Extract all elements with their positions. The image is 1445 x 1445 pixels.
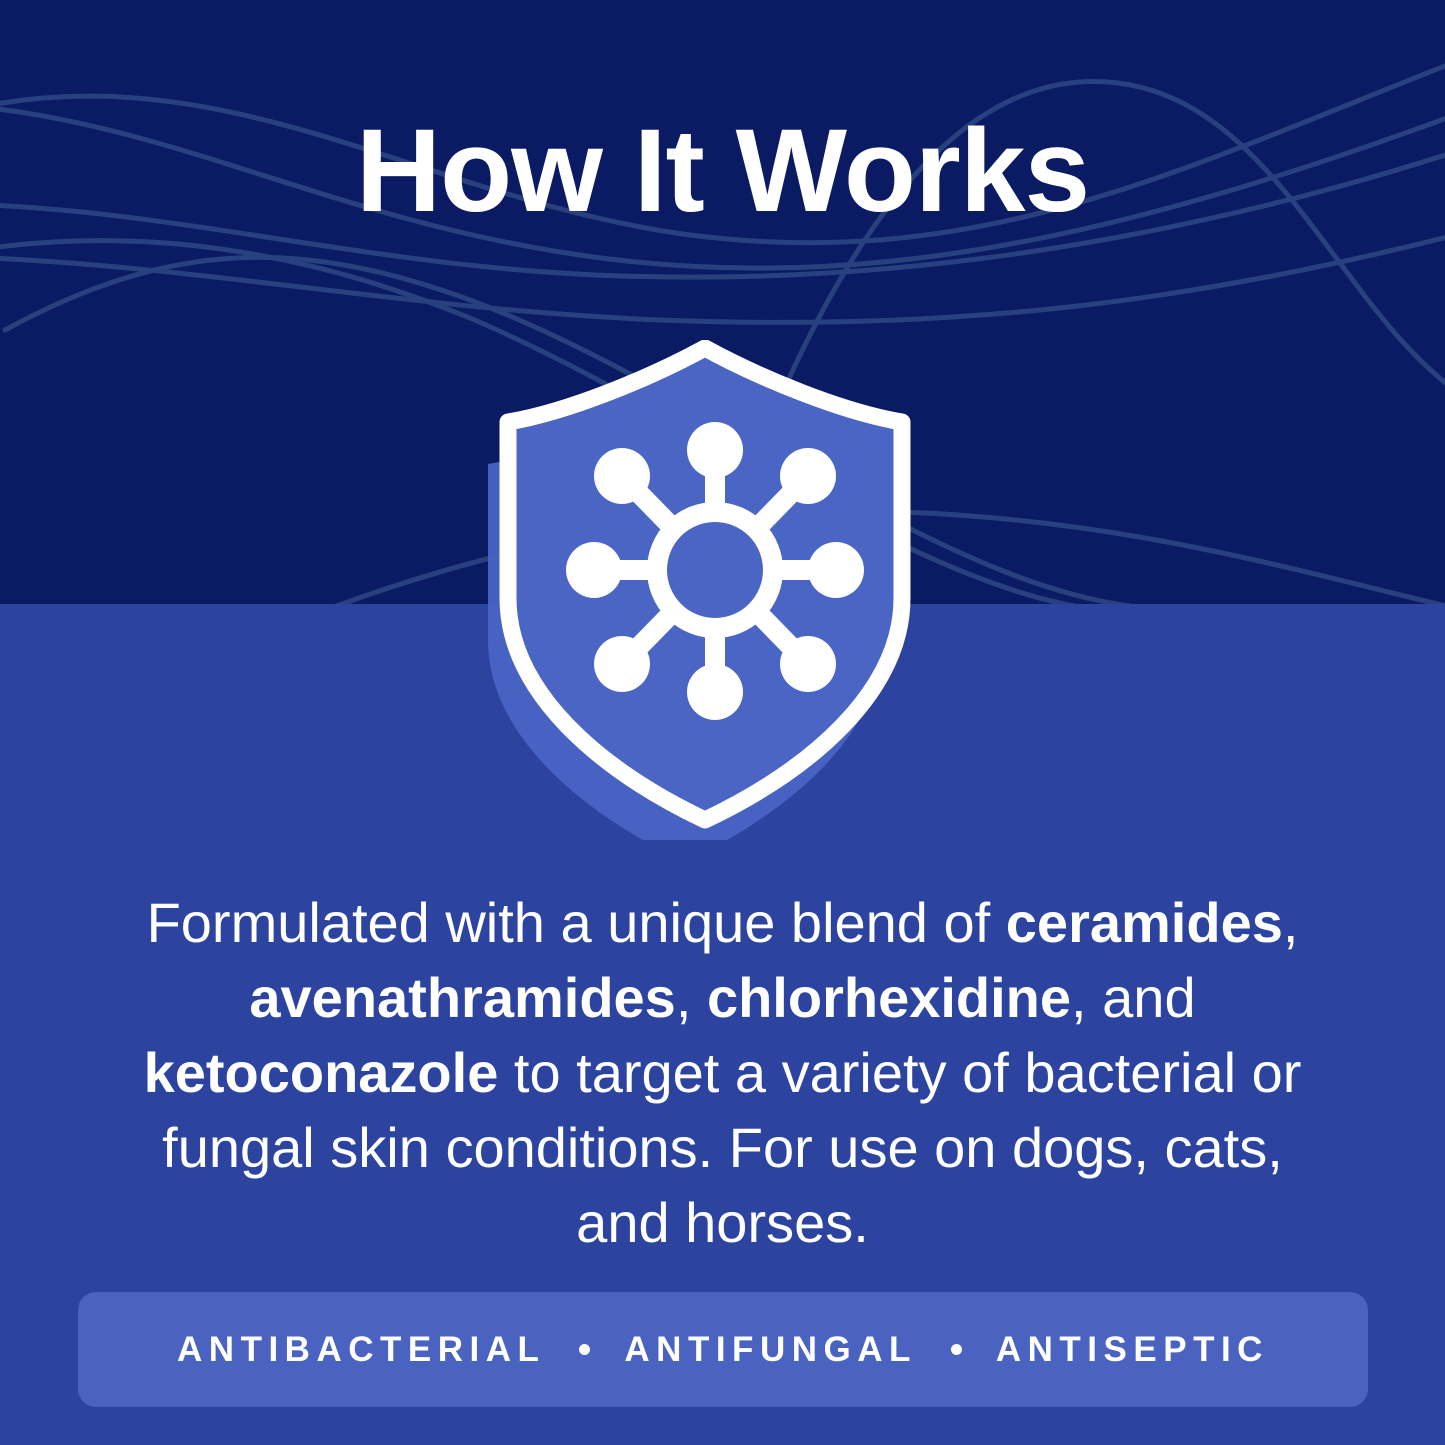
description-text: Formulated with a unique blend of cerami…	[144, 891, 1302, 1254]
bullet-dot-icon	[579, 1344, 590, 1355]
claim-antifungal: ANTIFUNGAL	[624, 1330, 916, 1370]
claim-antiseptic: ANTISEPTIC	[996, 1330, 1269, 1370]
bullet-dot-icon	[951, 1344, 962, 1355]
how-it-works-infographic: How It Works	[0, 0, 1445, 1445]
page-title: How It Works	[0, 112, 1445, 230]
claims-row: ANTIBACTERIAL ANTIFUNGAL ANTISEPTIC	[177, 1330, 1269, 1370]
claims-banner: ANTIBACTERIAL ANTIFUNGAL ANTISEPTIC	[78, 1292, 1368, 1407]
claim-antibacterial: ANTIBACTERIAL	[177, 1330, 545, 1370]
shield-microbe-icon	[470, 340, 940, 840]
description-paragraph: Formulated with a unique blend of cerami…	[110, 885, 1335, 1260]
